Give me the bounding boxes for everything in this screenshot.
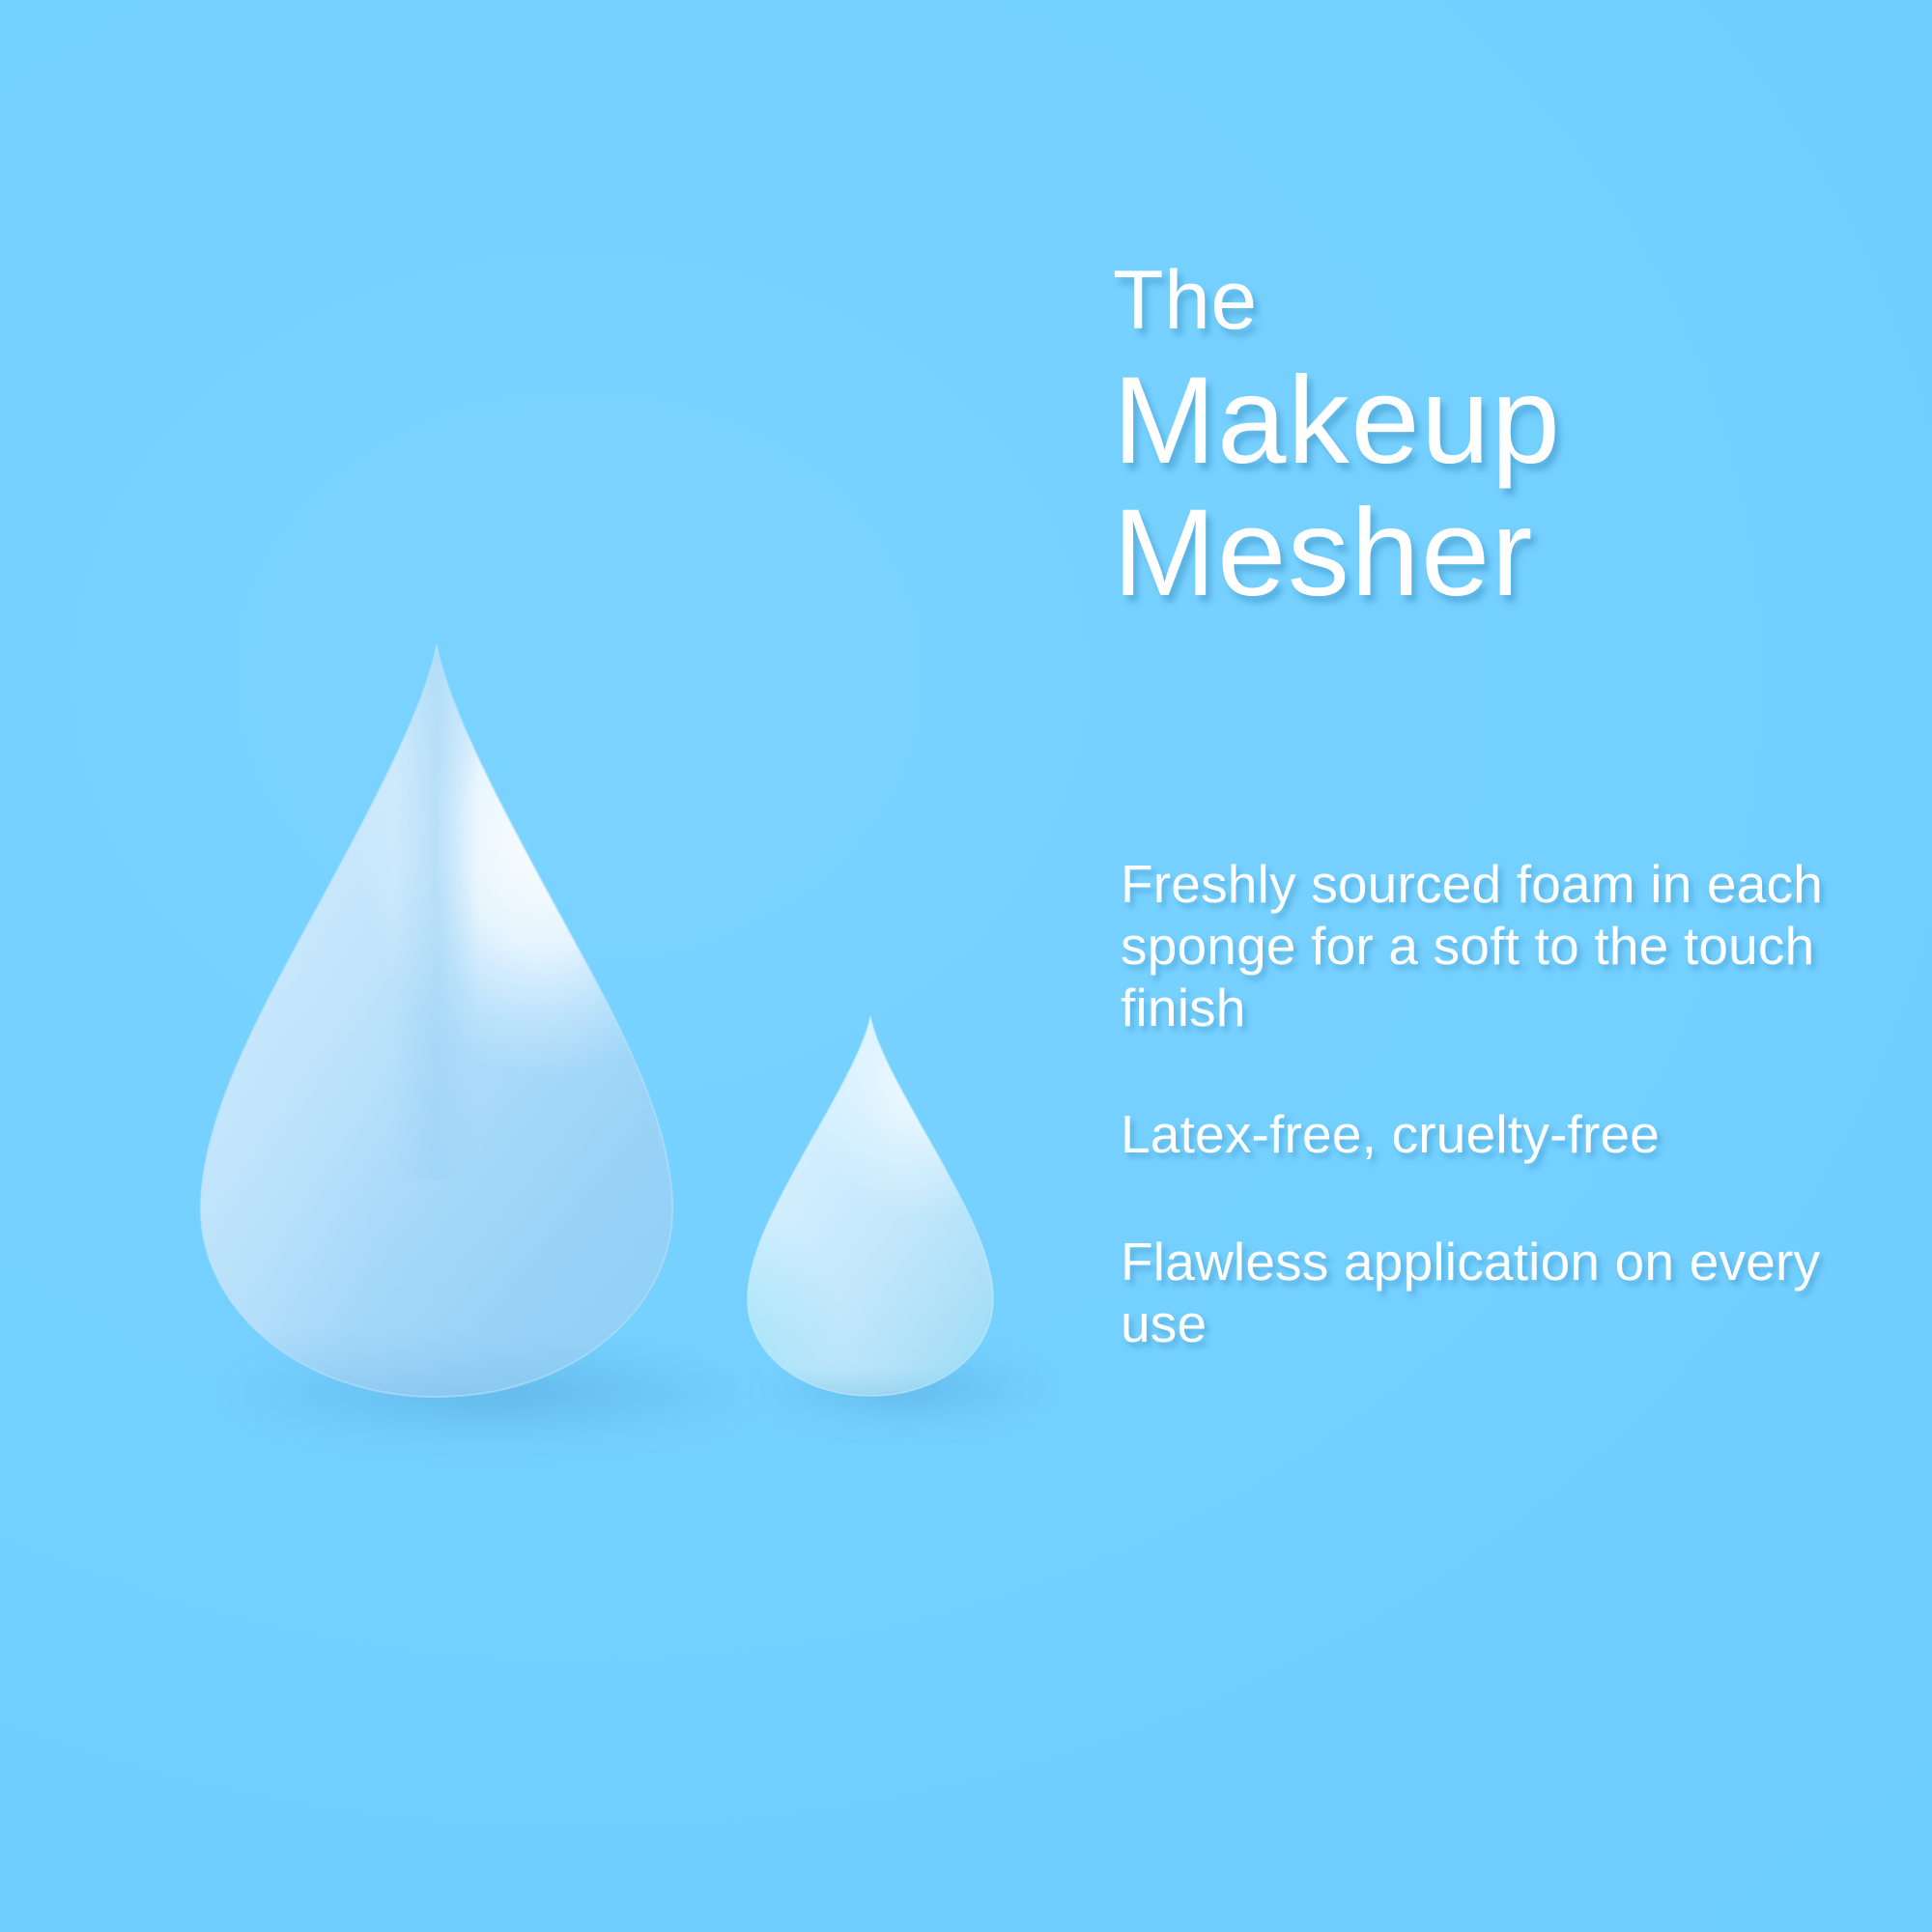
small-makeup-sponge (744, 1012, 997, 1399)
feature-item-latex-free: Latex-free, cruelty-free (1121, 1104, 1862, 1166)
product-headline: The Makeup Mesher (1113, 259, 1886, 620)
feature-item-foam: Freshly sourced foam in each sponge for … (1121, 854, 1862, 1038)
headline-line-the: The (1113, 259, 1886, 342)
marketing-text-column: The Makeup Mesher Freshly sourced foam i… (1113, 0, 1886, 1932)
feature-item-application: Flawless application on every use (1121, 1232, 1862, 1355)
feature-list: Freshly sourced foam in each sponge for … (1121, 854, 1862, 1355)
advertisement-canvas: The Makeup Mesher Freshly sourced foam i… (0, 0, 1932, 1932)
headline-line-makeup: Makeup (1113, 355, 1886, 488)
large-makeup-sponge (189, 639, 684, 1403)
headline-line-mesher: Mesher (1113, 488, 1886, 620)
